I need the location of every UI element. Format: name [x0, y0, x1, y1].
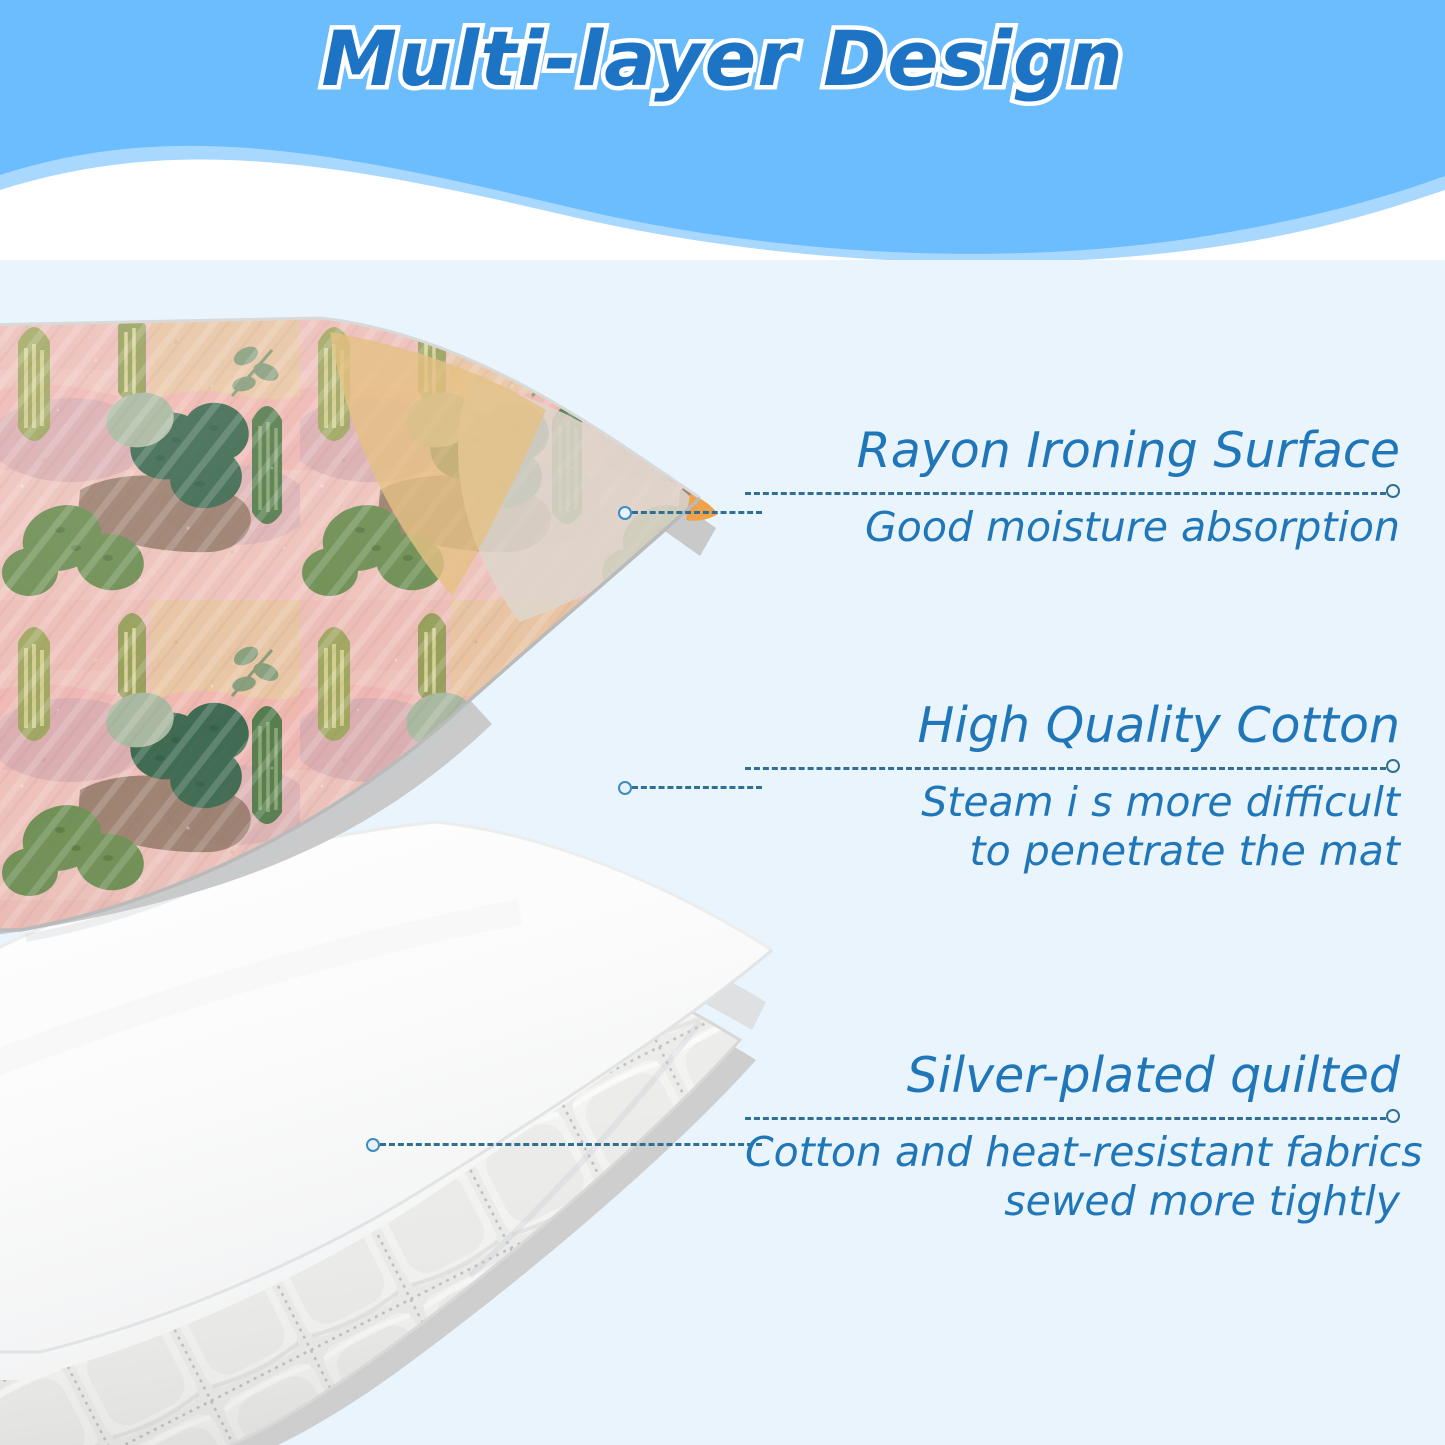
connector-origin-dot-icon	[618, 781, 632, 795]
connector-origin-dot-icon	[618, 506, 632, 520]
circle-endpoint-icon	[1386, 1109, 1400, 1123]
callout-subtitle-line: sewed more tightly	[745, 1177, 1400, 1226]
callout-heading: Silver-plated quilted	[745, 1050, 1400, 1103]
connector-line-quilted	[380, 1143, 762, 1146]
callout-divider	[745, 767, 1400, 768]
callout-subtitle-line: Steam i s more difficult	[745, 778, 1400, 827]
callout-subtitle: Steam i s more difficult to penetrate th…	[745, 778, 1400, 876]
callout-high-quality-cotton: High Quality Cotton Steam i s more diffi…	[745, 700, 1400, 876]
callout-rayon-ironing-surface: Rayon Ironing Surface Good moisture abso…	[745, 425, 1400, 552]
callout-divider	[745, 492, 1400, 493]
callout-heading: High Quality Cotton	[745, 700, 1400, 753]
callout-subtitle-line: Good moisture absorption	[745, 503, 1400, 552]
callout-subtitle-line: to penetrate the mat	[745, 827, 1400, 876]
connector-line-cotton	[632, 786, 762, 789]
infographic-canvas: Multi-layer Design	[0, 0, 1445, 1445]
callout-divider	[745, 1117, 1400, 1118]
dashed-line	[745, 767, 1386, 770]
dashed-line	[745, 492, 1386, 495]
circle-endpoint-icon	[1386, 484, 1400, 498]
callout-heading: Rayon Ironing Surface	[745, 425, 1400, 478]
circle-endpoint-icon	[1386, 759, 1400, 773]
callout-silver-plated-quilted: Silver-plated quilted Cotton and heat-re…	[745, 1050, 1400, 1226]
callout-subtitle: Good moisture absorption	[745, 503, 1400, 552]
dashed-line	[745, 1117, 1386, 1120]
connector-line-rayon	[632, 511, 762, 514]
callout-subtitle: Cotton and heat-resistant fabrics sewed …	[745, 1128, 1400, 1226]
connector-origin-dot-icon	[366, 1138, 380, 1152]
callout-subtitle-line: Cotton and heat-resistant fabrics	[745, 1128, 1400, 1177]
